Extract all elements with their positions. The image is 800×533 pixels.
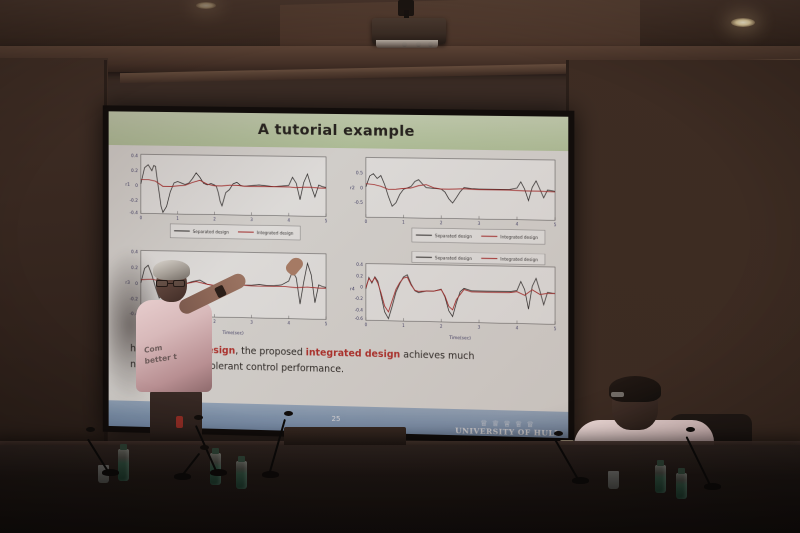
ceiling-downlight-icon (196, 2, 216, 9)
microphone (560, 427, 640, 481)
chart-legend-bottom-right: Separated design Integrated design (412, 251, 545, 264)
chart-legend-top-right: Separated design Integrated design (412, 228, 545, 244)
svg-text:5: 5 (554, 326, 557, 331)
svg-text:Integrated design: Integrated design (500, 234, 538, 240)
svg-text:r2: r2 (350, 185, 355, 191)
svg-text:0: 0 (365, 322, 368, 327)
svg-text:1: 1 (402, 323, 405, 328)
svg-text:3: 3 (478, 221, 481, 226)
chart-top-left: 0.4 0.2 0 -0.2 -0.4 r1 (115, 150, 332, 247)
svg-text:5: 5 (325, 321, 328, 326)
microphone (690, 425, 770, 487)
ceiling-downlight-icon (731, 18, 755, 27)
svg-text:4: 4 (516, 222, 519, 227)
svg-text:5: 5 (325, 218, 328, 223)
highlight-integrated-design: integrated design (306, 347, 401, 360)
svg-text:Separated design: Separated design (435, 255, 472, 261)
svg-text:3: 3 (250, 217, 253, 222)
chart-bottom-right: Separated design Integrated design 0.4 0… (340, 250, 561, 350)
svg-text:4: 4 (287, 320, 290, 325)
water-bottle (676, 473, 687, 499)
svg-text:0: 0 (360, 284, 363, 289)
svg-text:5: 5 (554, 222, 557, 227)
svg-text:r4: r4 (350, 286, 355, 292)
svg-text:Separated design: Separated design (193, 229, 230, 235)
presenter-pointing-arm (177, 271, 248, 316)
svg-text:2: 2 (213, 217, 216, 222)
svg-text:Integrated design: Integrated design (500, 256, 538, 262)
svg-text:0.4: 0.4 (356, 261, 363, 266)
svg-text:r1: r1 (125, 182, 130, 188)
svg-text:-0.4: -0.4 (130, 210, 139, 216)
svg-text:-0.2: -0.2 (355, 295, 364, 300)
svg-text:-0.2: -0.2 (130, 197, 139, 203)
svg-text:-0.5: -0.5 (354, 200, 363, 206)
svg-text:4: 4 (516, 325, 519, 330)
chart-bottom-right-svg: Separated design Integrated design 0.4 0… (340, 250, 561, 350)
svg-text:0: 0 (135, 183, 138, 189)
page-number: 25 (332, 415, 341, 423)
presenter-badge (176, 416, 183, 428)
svg-text:Integrated design: Integrated design (257, 230, 294, 236)
water-bottle (655, 465, 666, 493)
university-name: UNIVERSITY OF HULL (455, 427, 560, 437)
chart-top-right-svg: 0.5 0 -0.5 r2 (340, 153, 561, 252)
svg-text:-0.6: -0.6 (355, 316, 364, 321)
page-title: A tutorial example (258, 122, 415, 140)
svg-text:4: 4 (287, 218, 290, 223)
svg-text:2: 2 (440, 323, 443, 328)
conference-room-photo: A tutorial example 0.4 0.2 (0, 0, 800, 533)
projector-lens (376, 40, 438, 48)
svg-text:0.2: 0.2 (356, 273, 363, 278)
svg-text:0.4: 0.4 (131, 153, 138, 159)
svg-text:2: 2 (440, 220, 443, 225)
wall-panel-left (0, 58, 108, 478)
audience-hair (609, 376, 661, 402)
chart-top-left-svg: 0.4 0.2 0 -0.2 -0.4 r1 (115, 150, 332, 247)
svg-text:3: 3 (478, 324, 481, 329)
svg-text:1: 1 (176, 216, 179, 221)
glasses-icon (611, 392, 624, 397)
svg-text:0.2: 0.2 (131, 168, 138, 174)
svg-text:0.5: 0.5 (356, 170, 363, 176)
svg-text:0: 0 (360, 185, 363, 191)
glasses-icon (156, 280, 188, 287)
svg-text:0: 0 (365, 219, 368, 224)
chart-top-right: 0.5 0 -0.5 r2 (340, 153, 561, 252)
svg-text:-0.4: -0.4 (355, 307, 364, 312)
microphone (92, 421, 172, 473)
x-axis-label: Time(sec) (448, 335, 471, 342)
university-logo: ♕ ♕ ♕ ♕ ♕ UNIVERSITY OF HULL (455, 419, 560, 437)
microphone (168, 441, 228, 477)
svg-text:3: 3 (250, 319, 253, 324)
svg-text:Separated design: Separated design (435, 233, 472, 239)
svg-text:1: 1 (402, 220, 405, 225)
presenter-hair (153, 260, 190, 280)
svg-text:0: 0 (140, 215, 143, 220)
axes-bottom-right: 0.4 0.2 0 -0.2 -0.4 -0.6 r4 (350, 261, 557, 343)
microphone (246, 411, 326, 475)
chart-legend-top-left: Separated design Integrated design (170, 224, 300, 240)
